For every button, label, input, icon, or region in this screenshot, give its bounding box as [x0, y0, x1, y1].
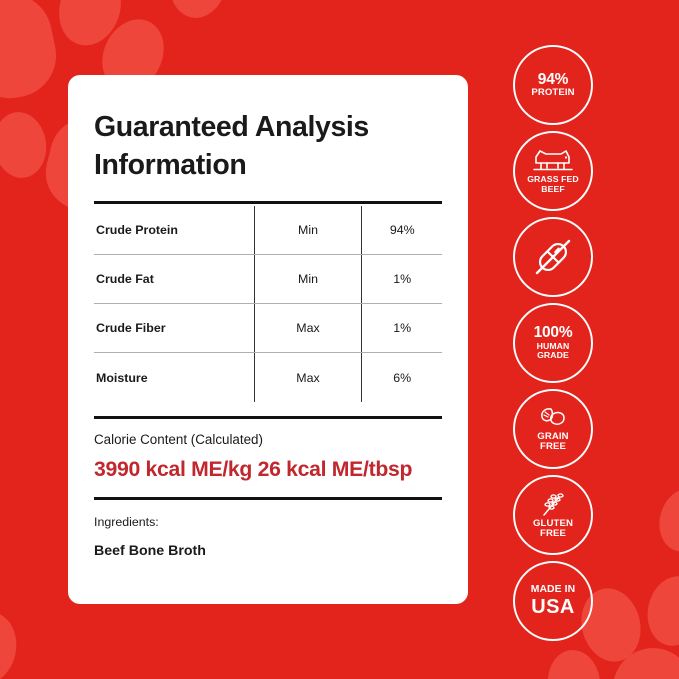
badge-human-grade-line3: GRADE — [537, 351, 569, 361]
table-body: Crude Protein Min 94% Crude Fat Min 1% C… — [94, 206, 442, 402]
ingredients-value: Beef Bone Broth — [94, 543, 442, 559]
paw-pad — [606, 643, 679, 679]
table-row: Crude Protein Min 94% — [94, 206, 442, 255]
paw-toe — [641, 571, 679, 651]
nutrient-name: Crude Protein — [94, 206, 254, 255]
nutrient-value: 1% — [362, 255, 442, 304]
paw-toe — [0, 608, 22, 679]
nutrient-basis: Max — [254, 304, 362, 353]
badge-no-additives — [513, 217, 593, 297]
badge-grain-free: GRAIN FREE — [513, 389, 593, 469]
badge-grass-fed-beef: GRASS FED BEEF — [513, 131, 593, 211]
nutrient-name: Crude Fat — [94, 255, 254, 304]
badge-gluten-free-text: GLUTEN FREE — [533, 519, 573, 539]
calorie-content-section: Calorie Content (Calculated) 3990 kcal M… — [94, 419, 442, 500]
nutrient-name: Crude Fiber — [94, 304, 254, 353]
table-row: Crude Fat Min 1% — [94, 255, 442, 304]
paw-toe — [0, 109, 50, 182]
ingredients-label: Ingredients: — [94, 515, 442, 529]
page-title: Guaranteed Analysis Information — [94, 109, 442, 185]
ingredients-section: Ingredients: Beef Bone Broth — [94, 500, 442, 559]
feature-badge-column: 94% PROTEIN GRASS FED BEEF — [513, 45, 595, 647]
paw-toe — [545, 647, 604, 679]
guaranteed-analysis-table: Crude Protein Min 94% Crude Fat Min 1% C… — [94, 206, 442, 402]
nutrient-basis: Min — [254, 206, 362, 255]
badge-grain-free-text: GRAIN FREE — [537, 432, 568, 452]
guaranteed-analysis-card: Guaranteed Analysis Information Crude Pr… — [68, 75, 468, 604]
badge-human-grade: 100% HUMAN GRADE — [513, 303, 593, 383]
cow-icon — [533, 148, 573, 173]
grain-icon — [538, 406, 568, 430]
badge-grass-fed-line2: BEEF — [527, 185, 579, 195]
no-pill-icon — [529, 233, 577, 281]
badge-protein: 94% PROTEIN — [513, 45, 593, 125]
badge-made-in-usa: MADE IN USA — [513, 561, 593, 641]
nutrient-value: 6% — [362, 353, 442, 402]
table-row: Crude Fiber Max 1% — [94, 304, 442, 353]
badge-protein-percent: 94% — [538, 72, 568, 88]
calorie-content-label: Calorie Content (Calculated) — [94, 432, 442, 447]
paw-pad — [0, 0, 64, 106]
badge-gluten-free: GLUTEN FREE — [513, 475, 593, 555]
paw-toe — [652, 482, 679, 557]
badge-grain-free-line2: FREE — [537, 442, 568, 452]
paw-toe — [50, 0, 131, 53]
calorie-content-value: 3990 kcal ME/kg 26 kcal ME/tbsp — [94, 458, 442, 482]
title-divider — [94, 201, 442, 204]
badge-gluten-free-line2: FREE — [533, 529, 573, 539]
nutrient-name: Moisture — [94, 353, 254, 402]
badge-made-in-usa-line1: MADE IN — [531, 584, 576, 595]
wheat-icon — [539, 491, 567, 517]
table-row: Moisture Max 6% — [94, 353, 442, 402]
nutrient-value: 1% — [362, 304, 442, 353]
badge-grass-fed-beef-text: GRASS FED BEEF — [527, 175, 579, 194]
badge-made-in-usa-line2: USA — [531, 597, 574, 618]
badge-human-grade-percent: 100% — [534, 325, 573, 341]
nutrient-basis: Min — [254, 255, 362, 304]
badge-protein-label: PROTEIN — [531, 88, 574, 98]
nutrient-basis: Max — [254, 353, 362, 402]
nutrient-value: 94% — [362, 206, 442, 255]
paw-toe — [164, 0, 231, 22]
